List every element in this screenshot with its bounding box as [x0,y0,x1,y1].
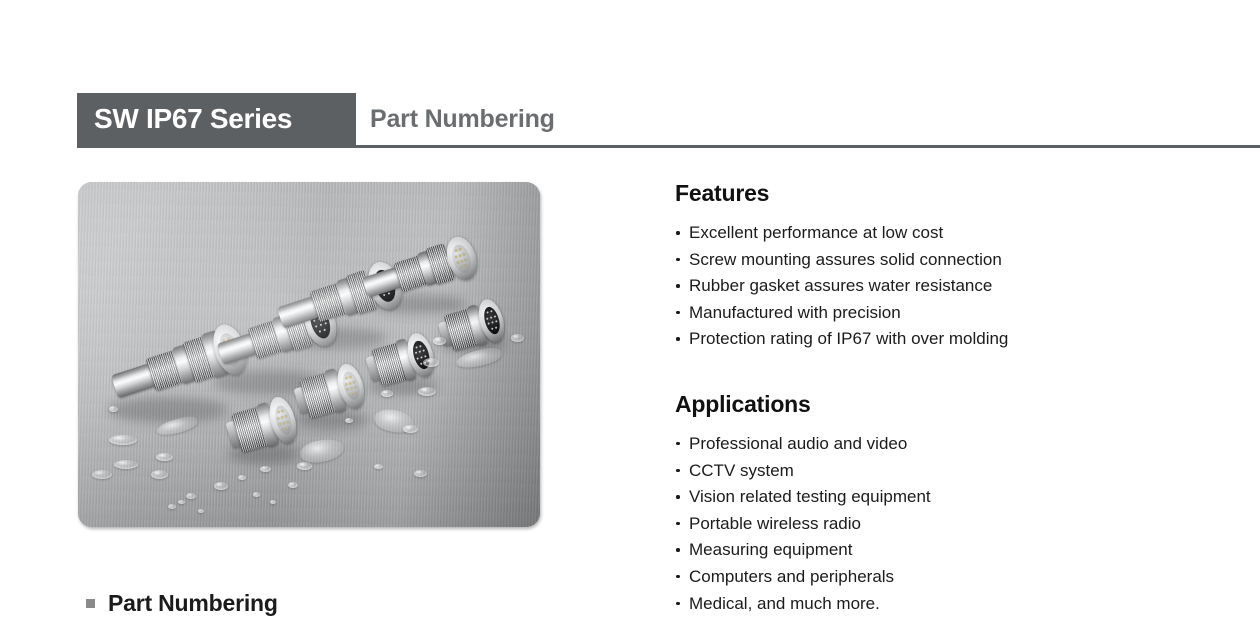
applications-item-label: Professional audio and video [689,434,907,453]
series-tab[interactable]: SW IP67 Series [77,93,356,145]
info-column: Features Excellent performance at low co… [675,182,1195,617]
features-item-label: Rubber gasket assures water resistance [689,276,992,295]
bullet-dot-icon [676,311,680,315]
features-list-item: Screw mounting assures solid connection [675,247,1195,274]
bullet-dot-icon [676,469,680,473]
applications-heading: Applications [675,393,1195,416]
applications-item-label: CCTV system [689,461,794,480]
bullet-dot-icon [676,575,680,579]
bullet-dot-icon [676,442,680,446]
features-item-label: Screw mounting assures solid connection [689,250,1002,269]
bullet-dot-icon [676,231,680,235]
features-list-item: Rubber gasket assures water resistance [675,273,1195,300]
features-list: Excellent performance at low cost Screw … [675,220,1195,353]
features-item-label: Protection rating of IP67 with over mold… [689,329,1008,348]
applications-list-item: Computers and peripherals [675,564,1195,591]
applications-list-item: Measuring equipment [675,537,1195,564]
bullet-dot-icon [676,548,680,552]
bullet-dot-icon [676,284,680,288]
applications-item-label: Medical, and much more. [689,594,880,613]
applications-list-item: CCTV system [675,458,1195,485]
product-photo [78,182,540,527]
bullet-dot-icon [676,337,680,341]
bullet-dot-icon [676,258,680,262]
applications-list-item: Professional audio and video [675,431,1195,458]
header-underline [77,145,1260,148]
applications-list-item: Portable wireless radio [675,511,1195,538]
bullet-dot-icon [676,602,680,606]
photo-vignette [78,182,540,527]
features-list-item: Protection rating of IP67 with over mold… [675,326,1195,353]
series-tab-label: SW IP67 Series [94,105,292,133]
applications-list-item: Medical, and much more. [675,591,1195,618]
bullet-dot-icon [676,522,680,526]
features-item-label: Manufactured with precision [689,303,901,322]
section-tab[interactable]: Part Numbering [356,93,555,145]
bullet-dot-icon [676,495,680,499]
applications-item-label: Computers and peripherals [689,567,894,586]
applications-item-label: Portable wireless radio [689,514,861,533]
applications-item-label: Measuring equipment [689,540,852,559]
section-tab-label: Part Numbering [370,107,555,132]
features-item-label: Excellent performance at low cost [689,223,943,242]
applications-list-item: Vision related testing equipment [675,484,1195,511]
part-numbering-subsection-heading: Part Numbering [86,592,278,615]
features-list-item: Manufactured with precision [675,300,1195,327]
features-heading: Features [675,182,1195,205]
features-list-item: Excellent performance at low cost [675,220,1195,247]
part-numbering-subsection-label: Part Numbering [108,592,278,615]
page-header: SW IP67 Series Part Numbering [0,93,1260,148]
applications-item-label: Vision related testing equipment [689,487,931,506]
square-bullet-icon [86,599,95,608]
applications-list: Professional audio and video CCTV system… [675,431,1195,617]
